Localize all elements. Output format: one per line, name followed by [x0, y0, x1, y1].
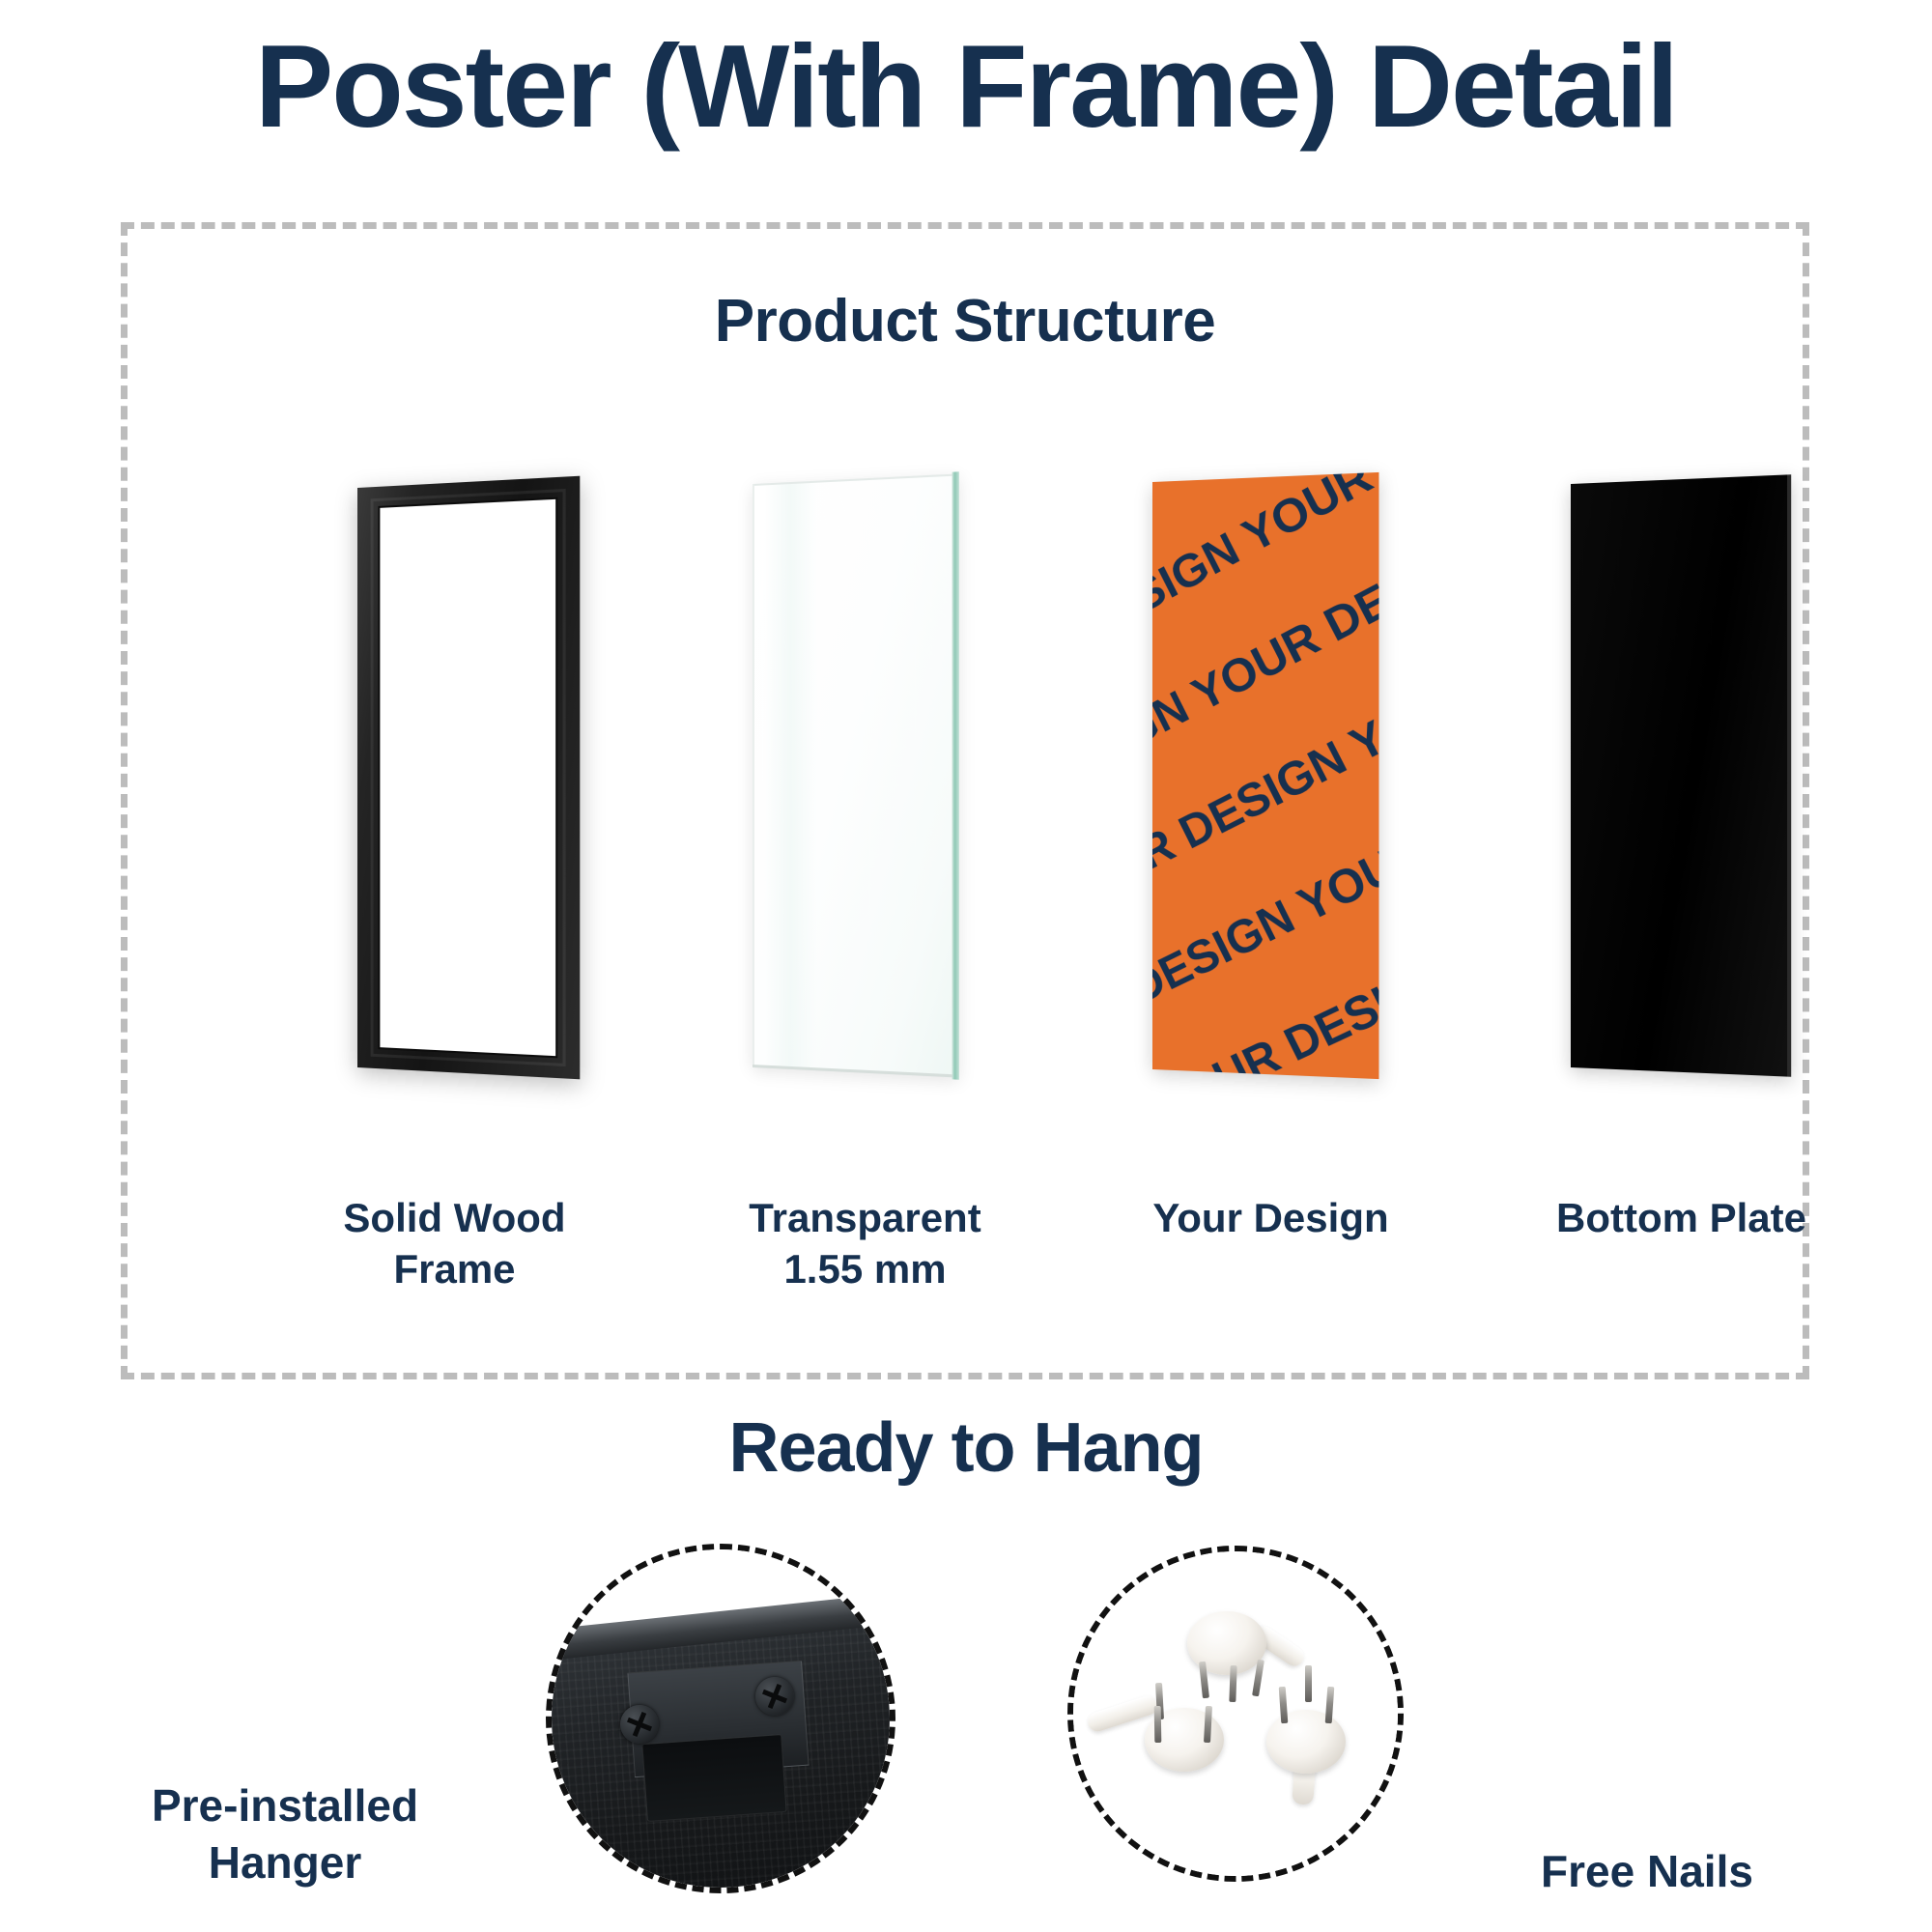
bottom-plate-sheen: [1571, 474, 1791, 1077]
pre-installed-hanger-photo: [546, 1544, 895, 1893]
hanger-scene: [548, 1546, 894, 1891]
free-nails-photo: [1067, 1546, 1404, 1882]
screw-icon: [620, 1705, 659, 1744]
screw-icon: [755, 1677, 794, 1716]
part-your-design: YOUR DESIGN YOUR DESIGN YOUR DESIGN YOUR…: [1060, 403, 1482, 1369]
nails-scene: [1073, 1551, 1398, 1876]
part-bottom-plate: Bottom Plate: [1470, 403, 1892, 1369]
nail-pin: [1229, 1665, 1236, 1702]
glass-sheen: [764, 481, 816, 1071]
part-solid-wood-frame: Solid Wood Frame: [243, 403, 666, 1369]
bottom-plate-edge: [1787, 474, 1791, 1077]
page-title: Poster (With Frame) Detail: [0, 27, 1932, 145]
part-label-bottom-plate: Bottom Plate: [1470, 1193, 1892, 1244]
pre-installed-hanger-label: Pre-installed Hanger: [58, 1777, 512, 1891]
glass-edge-bottom: [753, 1065, 959, 1078]
product-structure-panel: Product Structure Solid Wood Frame: [121, 222, 1809, 1379]
glass-edge-left: [753, 484, 754, 1067]
design-panel: YOUR DESIGN YOUR DESIGN YOUR DESIGN YOUR…: [1152, 472, 1378, 1079]
wood-frame-body: [357, 476, 580, 1080]
nail-pin: [1305, 1665, 1312, 1702]
nail-head: [1266, 1710, 1346, 1774]
part-label-transparent-glass: Transparent 1.55 mm: [654, 1193, 1076, 1294]
glass-edge-right: [952, 471, 959, 1079]
nail-pin: [1279, 1687, 1289, 1723]
part-label-solid-wood-frame: Solid Wood Frame: [243, 1193, 666, 1294]
wood-frame-window: [378, 497, 557, 1059]
bottom-plate-body: [1571, 474, 1791, 1077]
product-parts-row: Solid Wood Frame Transparent 1.55 mm YOU…: [128, 403, 1803, 1369]
part-transparent-glass: Transparent 1.55 mm: [654, 403, 1076, 1369]
transparent-glass-illustration: [654, 403, 1076, 1176]
free-nails-label: Free Nails: [1420, 1843, 1874, 1900]
your-design-illustration: YOUR DESIGN YOUR DESIGN YOUR DESIGN YOUR…: [1060, 403, 1482, 1176]
glass-edge-top: [753, 473, 959, 486]
ready-to-hang-heading: Ready to Hang: [0, 1408, 1932, 1488]
nail-pin: [1154, 1706, 1162, 1743]
design-watermark-group: YOUR DESIGN YOUR DESIGN YOUR DESIGN YOUR…: [1152, 472, 1378, 1079]
product-structure-heading: Product Structure: [128, 287, 1803, 355]
glass-panel: [753, 473, 959, 1077]
solid-wood-frame-illustration: [243, 403, 666, 1176]
bottom-plate-illustration: [1470, 403, 1892, 1176]
hanger-slot: [642, 1735, 787, 1823]
part-label-your-design: Your Design: [1060, 1193, 1482, 1244]
